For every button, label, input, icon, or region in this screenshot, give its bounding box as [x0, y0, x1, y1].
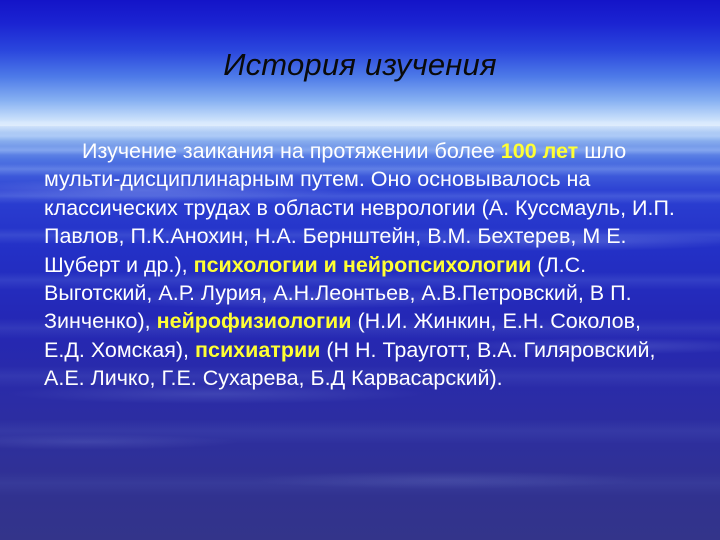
- slide-body-text: Изучение заикания на протяжении более 10…: [44, 137, 676, 393]
- slide-title: История изучения: [0, 48, 720, 82]
- body-segment-highlight-psychiatry: психиатрии: [195, 338, 320, 362]
- body-segment-highlight-years: 100 лет: [501, 139, 578, 163]
- presentation-slide: История изучения Изучение заикания на пр…: [0, 0, 720, 540]
- body-segment-plain: Изучение заикания на протяжении более: [82, 139, 501, 163]
- body-segment-highlight-psychology: психологии и нейропсихологии: [194, 253, 532, 277]
- body-segment-highlight-neurophysiology: нейрофизиологии: [157, 309, 352, 333]
